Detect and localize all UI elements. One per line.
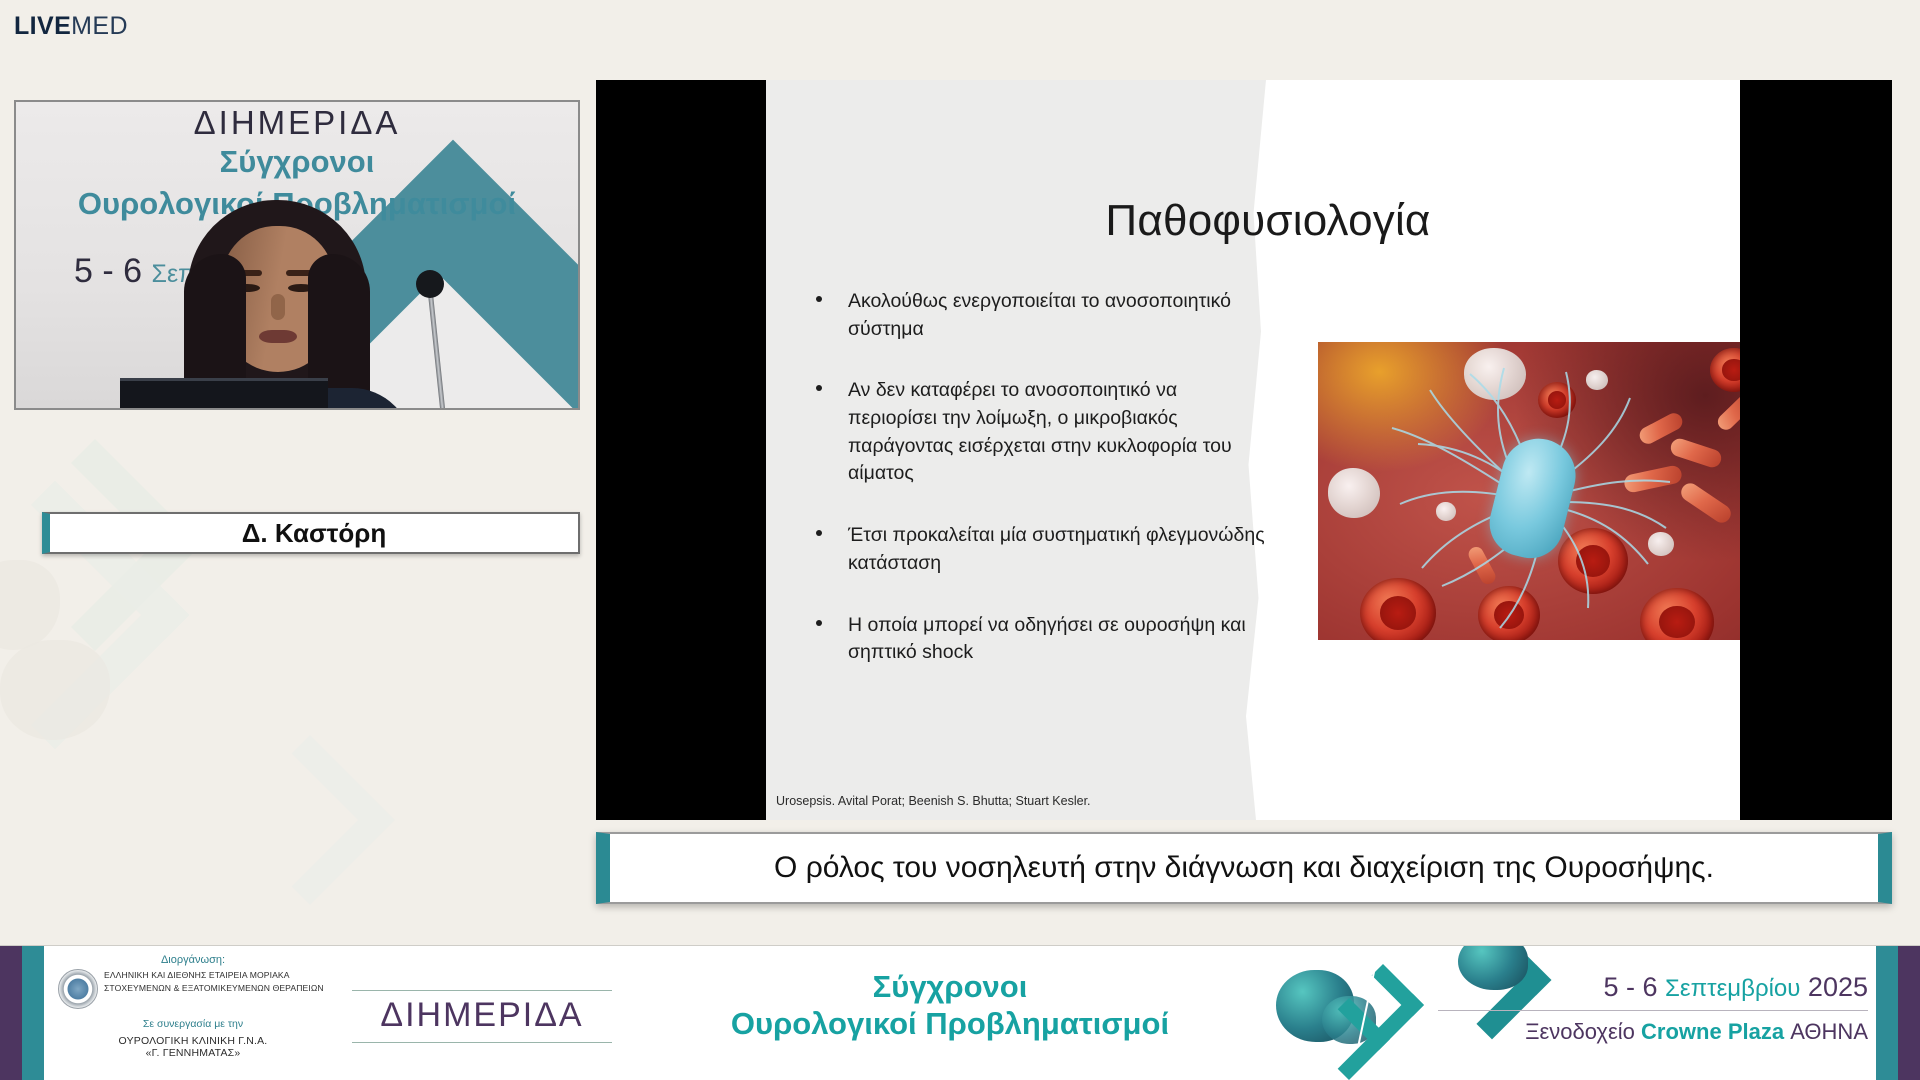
speaker-video-frame: ΔΙΗΜΕΡΙΔΑ Σύγχρονοι Ουρολογικοί Προβλημα…	[16, 102, 578, 408]
footer-coop-label: Σε συνεργασία με την	[58, 1018, 328, 1030]
footer-date-days: 5 - 6	[1603, 972, 1657, 1002]
bullet-dot-icon	[816, 620, 822, 626]
webinar-player-page: LIVEMED ΔΙΗΜΕΡΙΔΑ Σύγχρονοι Ουρολογικοί …	[0, 0, 1920, 1080]
speaker-name-label: Δ. Καστόρη	[242, 518, 387, 549]
footer-organizer-names: ΕΛΛΗΝΙΚΗ ΚΑΙ ΔΙΕΘΝΗΣ ΕΤΑΙΡΕΙΑ ΜΟΡΙΑΚΑ ΣΤ…	[104, 969, 324, 995]
footer-venue-label: Ξενοδοχείο	[1525, 1019, 1635, 1044]
footer-date: 5 - 6 Σεπτεμβρίου 2025	[1438, 972, 1868, 1003]
footer-theme-line1: Σύγχρονοι	[640, 968, 1260, 1005]
brand-logo-live: LIVE	[14, 12, 71, 40]
laptop	[120, 378, 328, 408]
footer-organizer-line2: ΣΤΟΧΕΥΜΕΝΩΝ & ΕΞΑΤΟΜΙΚΕΥΜΕΝΩΝ ΘΕΡΑΠΕΙΩΝ	[104, 982, 324, 995]
bullet-dot-icon	[816, 385, 822, 391]
footer-date-year: 2025	[1808, 972, 1868, 1002]
slide-canvas: Παθοφυσιολογία Ακολούθως ενεργοποιείται …	[766, 80, 1740, 820]
presenter-nose	[271, 294, 285, 320]
footer-edge-purple-left	[0, 946, 22, 1080]
slide-bullet: Αν δεν καταφέρει το ανοσοποιητικό να περ…	[810, 377, 1270, 488]
slide-bullet-text: Αν δεν καταφέρει το ανοσοποιητικό να περ…	[848, 379, 1232, 484]
footer-venue-city: ΑΘΗΝΑ	[1790, 1019, 1868, 1044]
slide-bullet: Έτσι προκαλείται μία συστηματική φλεγμον…	[810, 522, 1270, 577]
slide-bullet-text: Έτσι προκαλείται μία συστηματική φλεγμον…	[848, 524, 1265, 574]
footer-edge-teal-right	[1876, 946, 1898, 1080]
footer-venue-name: Crowne Plaza	[1641, 1019, 1784, 1044]
session-title-text: Ο ρόλος του νοσηλευτή στην διάγνωση και …	[774, 851, 1714, 885]
presenter-mouth	[259, 330, 297, 343]
slide-bullet: Ακολούθως ενεργοποιείται το ανοσοποιητικ…	[810, 288, 1270, 343]
microphone-icon	[416, 270, 444, 298]
slide-title: Παθοφυσιολογία	[766, 196, 1740, 246]
bullet-dot-icon	[816, 530, 822, 536]
speaker-name-plate: Δ. Καστόρη	[42, 512, 580, 554]
backdrop-theme-line1: Σύγχρονοι	[16, 144, 578, 180]
footer-venue-block: 5 - 6 Σεπτεμβρίου 2025 Ξενοδοχείο Crowne…	[1438, 972, 1868, 1045]
footer-banner: Διοργάνωση: ΕΛΛΗΝΙΚΗ ΚΑΙ ΔΙΕΘΝΗΣ ΕΤΑΙΡΕΙ…	[0, 945, 1920, 1080]
backdrop-event-word: ΔΙΗΜΕΡΙΔΑ	[16, 104, 578, 142]
speaker-video[interactable]: ΔΙΗΜΕΡΙΔΑ Σύγχρονοι Ουρολογικοί Προβλημα…	[14, 100, 580, 410]
footer-rule-bottom	[352, 1042, 612, 1043]
slide-bullet-list: Ακολούθως ενεργοποιείται το ανοσοποιητικ…	[810, 288, 1270, 701]
footer-coop-line2: «Γ. ΓΕΝΝΗΜΑΤΑΣ»	[58, 1047, 328, 1059]
slide-bullet-text: Η οποία μπορεί να οδηγήσει σε ουροσήψη κ…	[848, 614, 1246, 664]
brand-logo[interactable]: LIVEMED	[14, 14, 128, 39]
backdrop-date-days: 5 - 6	[74, 252, 142, 290]
slide-stage[interactable]: Παθοφυσιολογία Ακολούθως ενεργοποιείται …	[596, 80, 1892, 820]
footer-theme-block: Σύγχρονοι Ουρολογικοί Προβληματισμοί	[640, 968, 1260, 1044]
slide-bullet: Η οποία μπορεί να οδηγήσει σε ουροσήψη κ…	[810, 612, 1270, 667]
footer-organizer-block: Διοργάνωση: ΕΛΛΗΝΙΚΗ ΚΑΙ ΔΙΕΘΝΗΣ ΕΤΑΙΡΕΙ…	[58, 954, 328, 1059]
backdrop-date: 5 - 6 Σεπ	[74, 252, 195, 291]
brand-logo-med: MED	[71, 12, 128, 40]
footer-event-word: ΔΙΗΜΕΡΙΔΑ	[352, 991, 612, 1042]
footer-organizer-line1: ΕΛΛΗΝΙΚΗ ΚΑΙ ΔΙΕΘΝΗΣ ΕΤΑΙΡΕΙΑ ΜΟΡΙΑΚΑ	[104, 969, 324, 982]
footer-date-month: Σεπτεμβρίου	[1665, 975, 1800, 1002]
footer-event-word-block: ΔΙΗΜΕΡΙΔΑ	[352, 990, 612, 1043]
footer-edge-purple-right	[1898, 946, 1920, 1080]
session-title-bar: Ο ρόλος του νοσηλευτή στην διάγνωση και …	[596, 832, 1892, 904]
footer-venue: Ξενοδοχείο Crowne Plaza ΑΘΗΝΑ	[1438, 1019, 1868, 1045]
footer-edge-teal-left	[22, 946, 44, 1080]
slide-figure-image	[1318, 342, 1740, 640]
slide-bullet-text: Ακολούθως ενεργοποιείται το ανοσοποιητικ…	[848, 290, 1231, 340]
footer-coop-line1: ΟΥΡΟΛΟΓΙΚΗ ΚΛΙΝΙΚΗ Γ.Ν.Α.	[58, 1035, 328, 1047]
society-seal-icon	[58, 969, 98, 1009]
footer-venue-rule	[1438, 1010, 1868, 1011]
footer-theme-line2: Ουρολογικοί Προβληματισμοί	[640, 1005, 1260, 1044]
footer-organizer-row: ΕΛΛΗΝΙΚΗ ΚΑΙ ΔΙΕΘΝΗΣ ΕΤΑΙΡΕΙΑ ΜΟΡΙΑΚΑ ΣΤ…	[58, 969, 328, 1009]
bullet-dot-icon	[816, 296, 822, 302]
footer-organizer-label: Διοργάνωση:	[58, 954, 328, 966]
speaker-card: ΔΙΗΜΕΡΙΔΑ Σύγχρονοι Ουρολογικοί Προβλημα…	[14, 100, 580, 456]
slide-citation: Urosepsis. Avital Porat; Beenish S. Bhut…	[776, 794, 1091, 808]
